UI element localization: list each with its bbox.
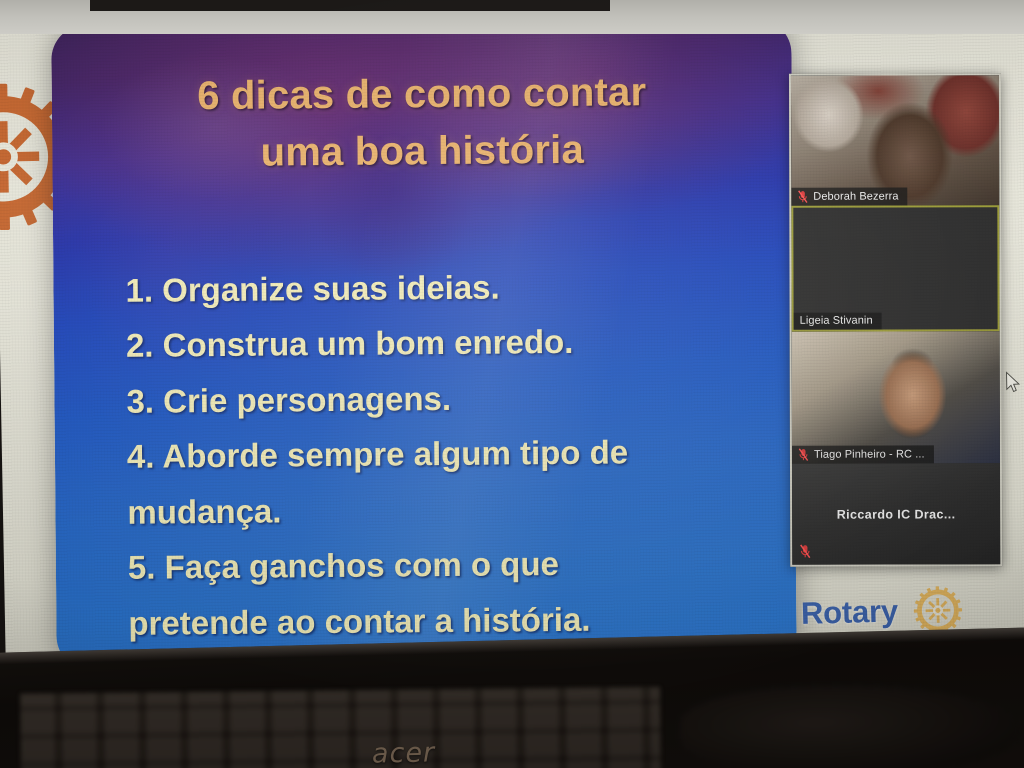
participant-tile-riccardo[interactable]: Riccardo IC Drac... [792, 463, 1000, 565]
slide-list-item: 1. Organize suas ideias. [125, 257, 767, 318]
laptop-trackpad-area [680, 682, 1022, 768]
participant-name-text: Riccardo IC Drac... [792, 507, 1000, 522]
participant-name-badge: Deborah Bezerra [791, 187, 907, 205]
participant-name-text: Deborah Bezerra [813, 190, 898, 202]
shared-presentation-slide: 6 dicas de como contar uma boa história … [51, 19, 797, 670]
slide-tips-list: 1. Organize suas ideias. 2. Construa um … [125, 257, 771, 670]
slide-list-item: 5. Faça ganchos com o que [128, 534, 770, 595]
rotary-wordmark: Rotary [801, 593, 899, 631]
acer-brand-logo: acer [372, 737, 436, 768]
participant-video-feed [791, 75, 999, 206]
participant-video-feed [793, 207, 997, 330]
slide-list-item: 4. Aborde sempre algum tipo de [127, 423, 769, 484]
participant-name-text: Tiago Pinheiro - RC ... [814, 448, 925, 460]
participant-video-feed [792, 331, 1000, 464]
monitor-edge-band [90, 0, 610, 11]
slide-title: 6 dicas de como contar uma boa história [52, 63, 793, 183]
mouse-pointer-icon [1006, 371, 1021, 393]
participant-name-badge: Ligeia Stivanin [794, 313, 882, 330]
slide-list-item: 3. Crie personagens. [126, 368, 768, 429]
participant-tile-deborah-bezerra[interactable]: Deborah Bezerra [791, 75, 999, 206]
microphone-muted-icon [799, 544, 811, 558]
laptop-screen: 6 dicas de como contar uma boa história … [0, 3, 1024, 670]
participant-name-badge: Tiago Pinheiro - RC ... [792, 445, 934, 463]
participant-name-text: Ligeia Stivanin [800, 315, 873, 327]
zoom-participant-strip[interactable]: Deborah Bezerra Ligeia Stivanin [789, 73, 1002, 567]
participant-tile-ligeia-stivanin[interactable]: Ligeia Stivanin [791, 205, 999, 332]
slide-title-line-1: 6 dicas de como contar [92, 63, 752, 126]
slide-title-line-2: uma boa história [92, 120, 752, 183]
laptop-bezel [0, 627, 1024, 768]
slide-list-item: 2. Construa um bom enredo. [126, 313, 768, 374]
microphone-muted-icon [798, 448, 809, 461]
participant-tile-tiago-pinheiro[interactable]: Tiago Pinheiro - RC ... [792, 331, 1000, 464]
microphone-muted-icon [797, 190, 808, 203]
slide-list-item: mudança. [127, 479, 769, 540]
photo-scene: 6 dicas de como contar uma boa história … [0, 0, 1024, 768]
laptop-keyboard [20, 687, 661, 768]
